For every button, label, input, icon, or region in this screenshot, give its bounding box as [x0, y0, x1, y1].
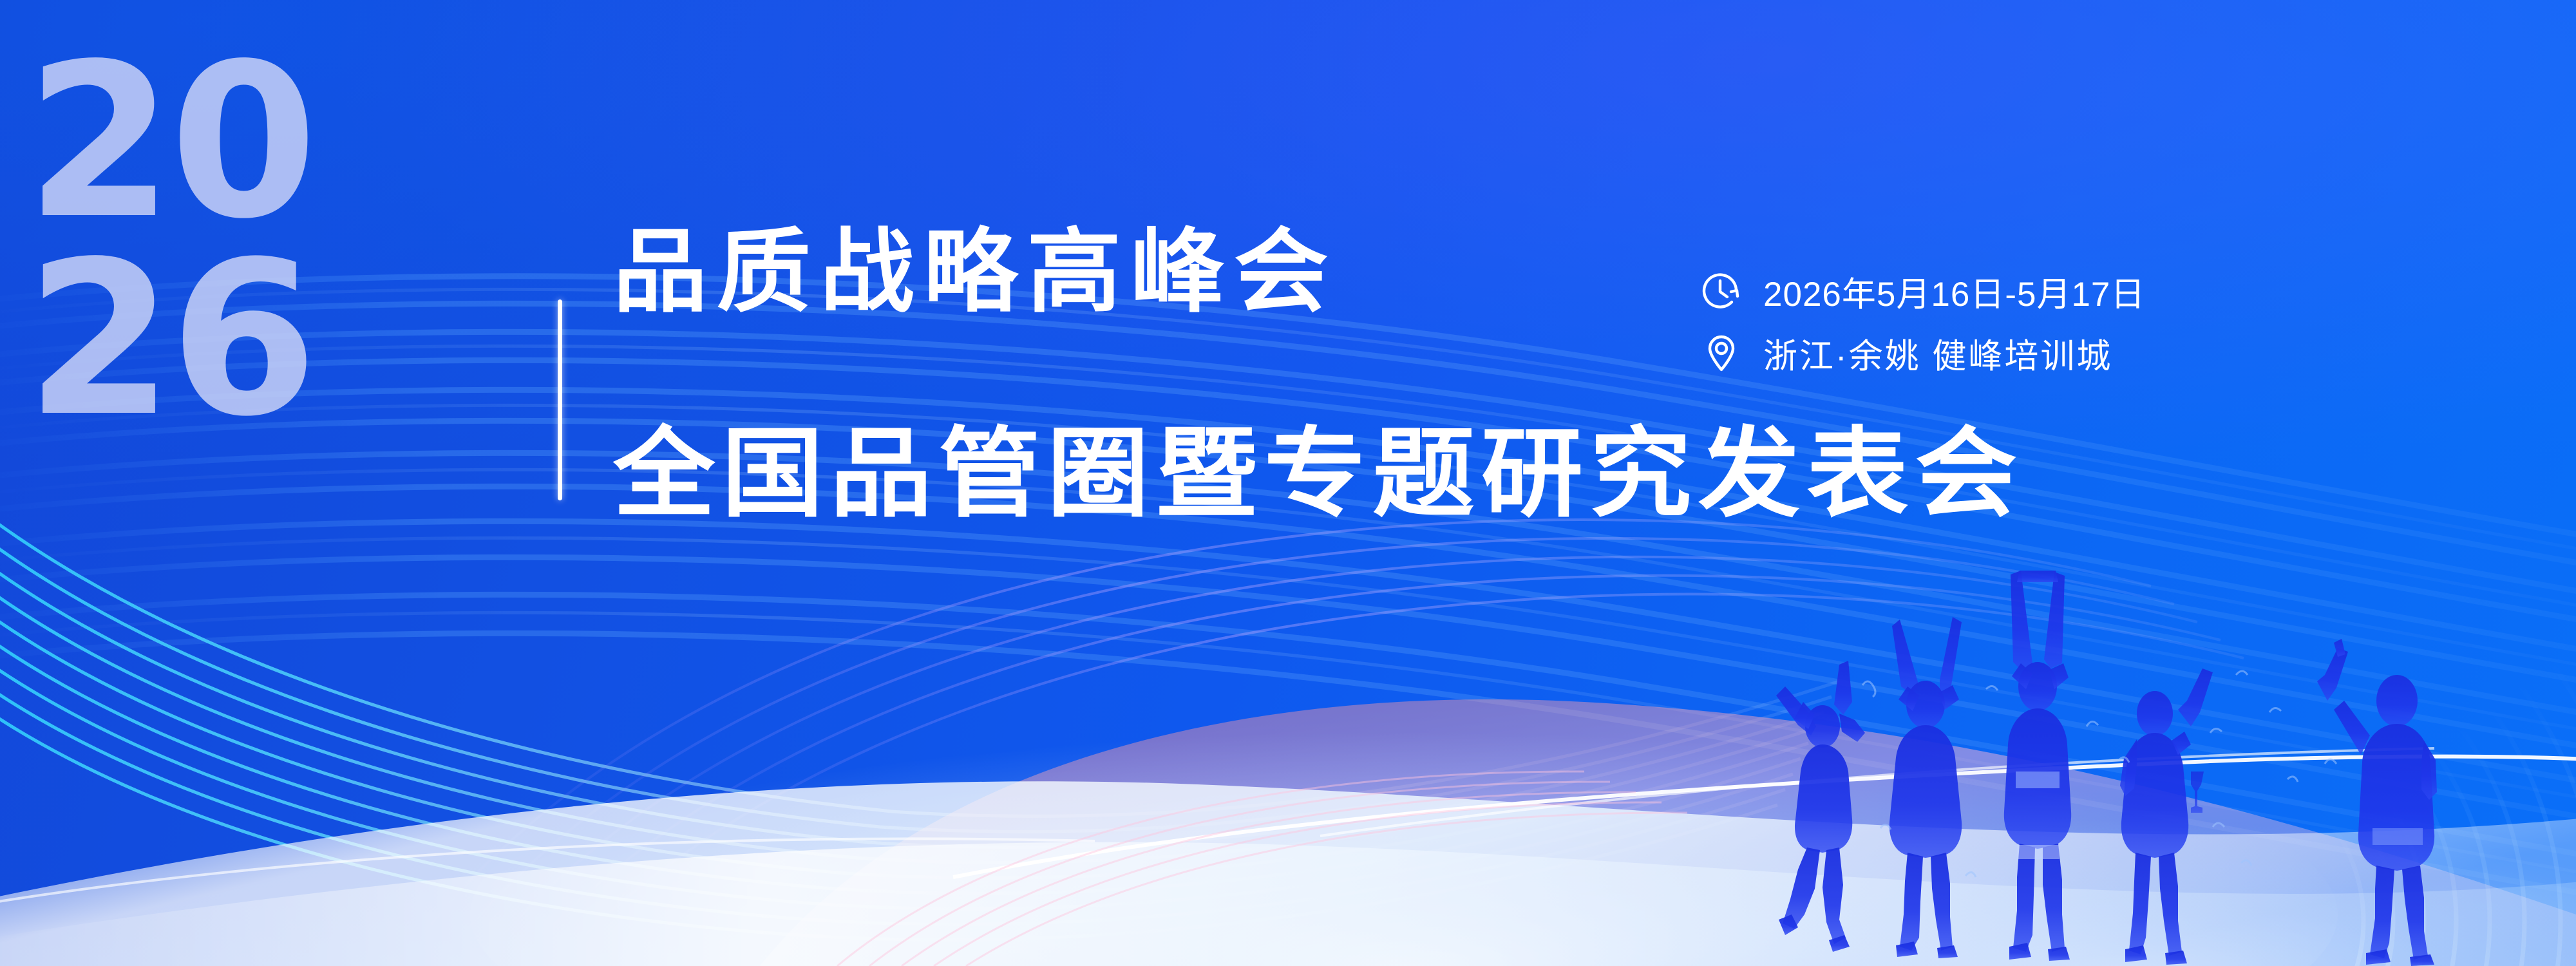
event-location-row: 浙江·余姚 健峰培训城	[1699, 323, 2145, 384]
vertical-divider	[558, 299, 562, 500]
conference-banner: 20 26 品质战略高峰会 全国品管圈暨专题研究发表会 2026年5月16日-5…	[0, 0, 2576, 966]
celebrating-crowd-silhouettes	[1726, 567, 2576, 966]
silhouette-figure-2	[1889, 617, 1962, 958]
year-2026: 20 26	[26, 52, 535, 567]
silhouette-figure-3	[2004, 571, 2071, 961]
year-bottom-digits: 26	[26, 249, 535, 430]
location-pin-icon	[1699, 331, 1744, 376]
silhouette-figure-4	[2120, 668, 2213, 965]
confetti-decoration	[1862, 671, 2336, 877]
silhouette-figure-1	[1776, 661, 1865, 952]
year-top-digits: 20	[26, 52, 535, 232]
event-date-row: 2026年5月16日-5月17日	[1699, 261, 2145, 323]
title-line-2: 全国品管圈暨专题研究发表会	[613, 425, 2023, 523]
event-date-text: 2026年5月16日-5月17日	[1763, 267, 2145, 316]
clock-icon	[1699, 269, 1744, 314]
event-location-text: 浙江·余姚 健峰培训城	[1763, 329, 2112, 378]
event-meta: 2026年5月16日-5月17日 浙江·余姚 健峰培训城	[1699, 261, 2145, 384]
silhouette-figure-5	[2317, 639, 2437, 966]
